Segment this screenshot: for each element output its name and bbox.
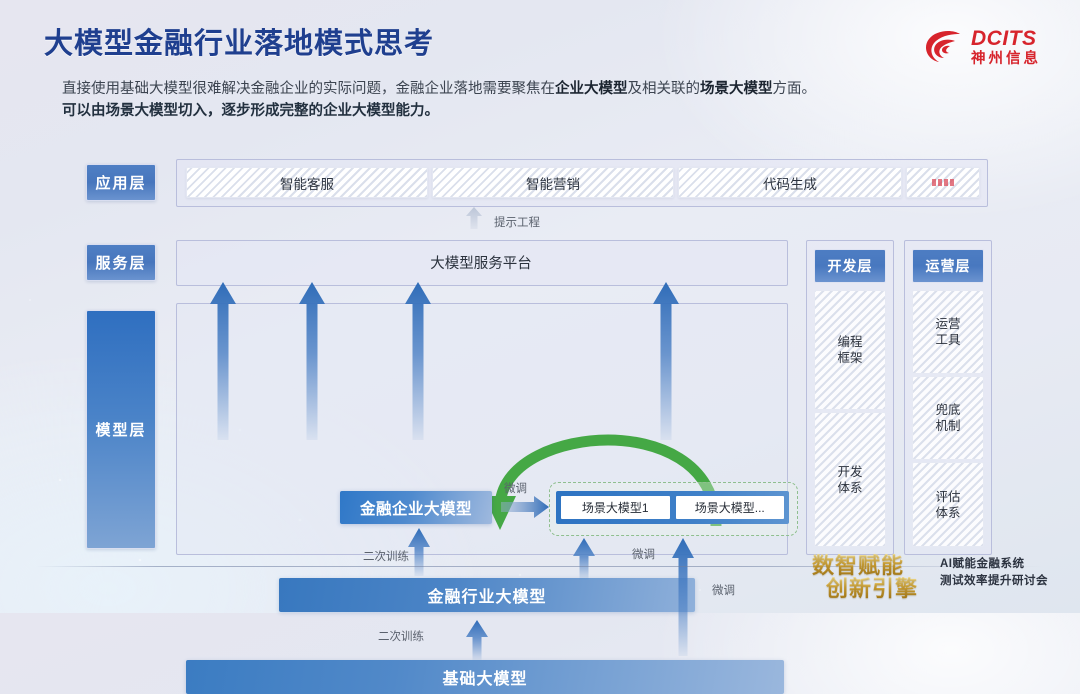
scene-models-container: 场景大模型1 场景大模型... (556, 491, 789, 524)
event-logo-line-1: 数智赋能 (812, 554, 932, 577)
ops-cell-fallback-mechanism[interactable]: 兜底 机制 (912, 376, 984, 460)
subtitle-line-2: 可以由场景大模型切入，逐步形成完整的企业大模型能力。 (62, 100, 1022, 122)
subtitle-emph-scene: 场景大模型 (700, 81, 773, 97)
finetune-label-1: 微调 (504, 480, 527, 496)
app-item-code-generation[interactable]: 代码生成 (678, 167, 902, 198)
scene-model-1-chip[interactable]: 场景大模型1 (561, 496, 670, 519)
retrain-label-2: 二次训练 (378, 628, 424, 644)
finetune-arrow-to-scene-b-icon (672, 538, 694, 656)
service-platform-label: 大模型服务平台 (176, 240, 786, 284)
dcits-swoosh-icon (924, 29, 964, 65)
model-to-service-arrow-4-icon (653, 282, 679, 440)
app-item-more[interactable] (906, 167, 980, 198)
model-to-service-arrow-2-icon (299, 282, 325, 440)
finetune-arrow-to-scene-a-icon (573, 538, 595, 580)
finetune-label-3: 微调 (712, 582, 735, 598)
finetune-label-2: 微调 (632, 546, 655, 562)
enterprise-model-box[interactable]: 金融企业大模型 (340, 491, 492, 524)
base-model-box[interactable]: 基础大模型 (186, 660, 784, 694)
dcits-logo-text: DCITS 神州信息 (971, 28, 1041, 67)
layer-tab-service: 服务层 (86, 244, 156, 281)
prompt-engineering-label: 提示工程 (494, 214, 540, 230)
page-title: 大模型金融行业落地模式思考 (44, 20, 434, 62)
dev-cell-programming-framework[interactable]: 编程 框架 (814, 290, 886, 410)
ellipsis-icon (932, 179, 954, 186)
subtitle-seg-a: 直接使用基础大模型很难解决金融企业的实际问题，金融企业落地需要聚焦在 (62, 81, 555, 97)
page-subtitle: 直接使用基础大模型很难解决金融企业的实际问题，金融企业落地需要聚焦在企业大模型及… (62, 78, 1022, 122)
subtitle-seg-c: 及相关联的 (628, 81, 701, 97)
industry-model-box[interactable]: 金融行业大模型 (279, 578, 695, 612)
event-logo: 数智赋能 创新引擎 (812, 548, 932, 606)
dev-cell-dev-system[interactable]: 开发 体系 (814, 412, 886, 547)
layer-tab-model: 模型层 (86, 310, 156, 549)
prompt-engineering-arrow-icon (466, 207, 482, 229)
dcits-logo-cn: 神州信息 (971, 52, 1041, 67)
enterprise-to-scene-arrow-icon (501, 496, 549, 518)
subtitle-line-1: 直接使用基础大模型很难解决金融企业的实际问题，金融企业落地需要聚焦在企业大模型及… (62, 78, 1022, 100)
app-item-smart-marketing[interactable]: 智能营销 (432, 167, 674, 198)
retrain-arrow-base-to-industry-icon (466, 620, 488, 660)
architecture-diagram: 应用层 服务层 模型层 智能客服 智能营销 代码生成 大模型服务平台 提示工程 … (0, 150, 1080, 570)
layer-tab-operation: 运营层 (912, 249, 984, 283)
ops-cell-evaluation-system[interactable]: 评估 体系 (912, 462, 984, 547)
model-to-service-arrow-3-icon (405, 282, 431, 440)
subtitle-emph-enterprise: 企业大模型 (555, 81, 628, 97)
event-logo-line-2: 创新引擎 (826, 577, 932, 600)
event-title-line-2: 测试效率提升研讨会 (940, 573, 1048, 590)
subtitle-seg-e: 方面。 (773, 81, 817, 97)
layer-tab-development: 开发层 (814, 249, 886, 283)
event-title-line-1: AI赋能金融系统 (940, 556, 1048, 573)
retrain-label-1: 二次训练 (363, 548, 409, 564)
layer-tab-application: 应用层 (86, 164, 156, 201)
dcits-logo: DCITS 神州信息 (924, 22, 1066, 72)
model-to-service-arrow-1-icon (210, 282, 236, 440)
retrain-arrow-industry-to-enterprise-icon (408, 528, 430, 576)
scene-model-more-chip[interactable]: 场景大模型... (676, 496, 785, 519)
app-item-smart-service[interactable]: 智能客服 (186, 167, 428, 198)
ops-cell-operation-tools[interactable]: 运营 工具 (912, 290, 984, 374)
event-title: AI赋能金融系统 测试效率提升研讨会 (940, 556, 1048, 590)
dcits-logo-en: DCITS (971, 28, 1041, 49)
